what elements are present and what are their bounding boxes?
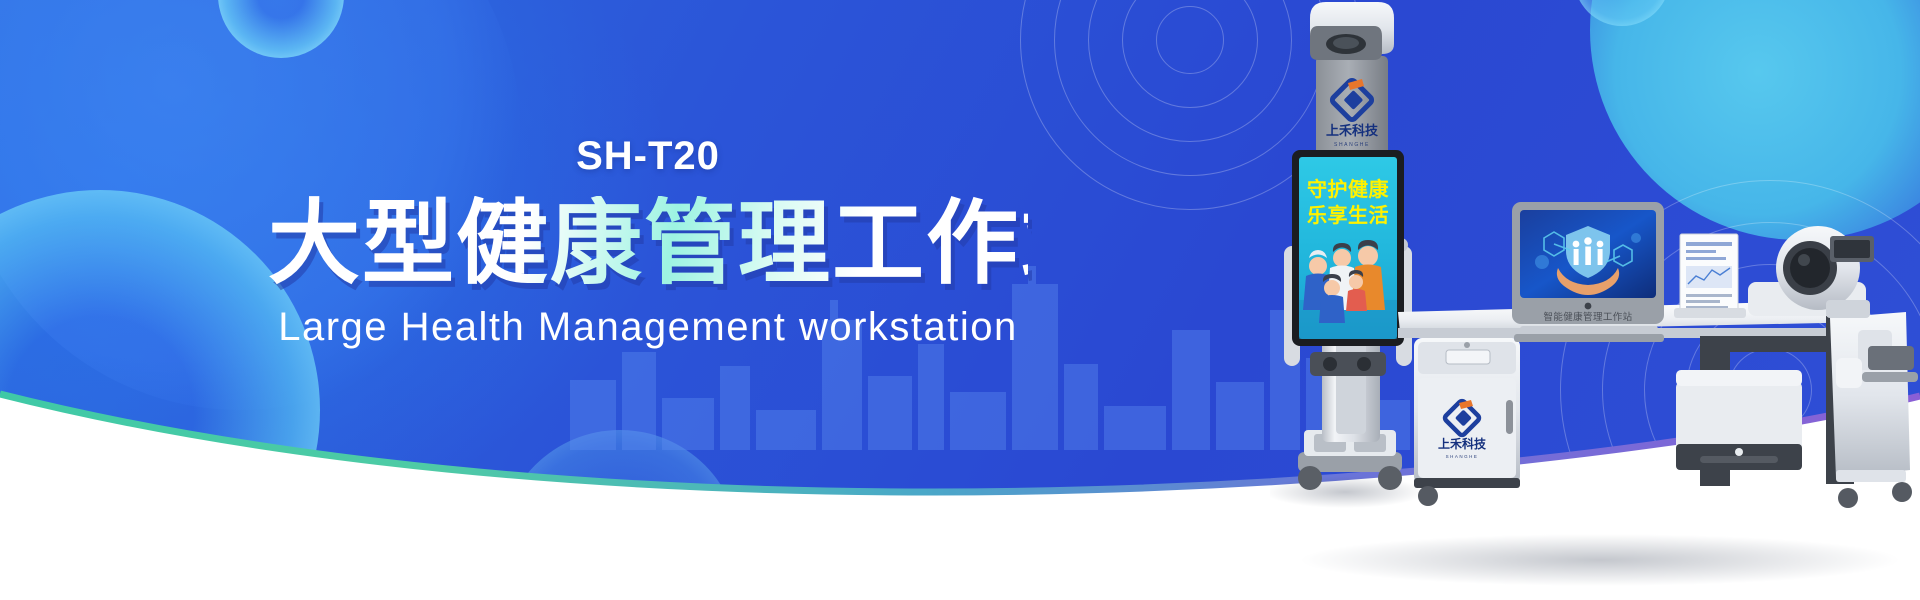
report-papers xyxy=(1674,234,1746,318)
workstation-desk: 上禾科技 SHANGHE xyxy=(1398,202,1918,508)
product-image-health-workstation: 上禾科技 SHANGHE 守护健康 乐享生活 xyxy=(1270,0,1920,600)
workstation-monitor: 智能健康管理工作站 xyxy=(1512,202,1664,342)
cabinet-brand-en: SHANGHE xyxy=(1446,454,1479,459)
kiosk-screen-line2: 乐享生活 xyxy=(1307,203,1389,227)
bubble-glow-ring-topleft xyxy=(218,0,344,58)
kiosk-screen-line1: 守护健康 xyxy=(1307,177,1390,201)
kiosk-unit: 上禾科技 SHANGHE 守护健康 乐享生活 xyxy=(1284,2,1412,490)
product-model-label: SH-T20 xyxy=(268,136,1028,176)
kiosk-brand-cn: 上禾科技 xyxy=(1326,123,1379,139)
kiosk-brand-en: SHANGHE xyxy=(1334,142,1370,148)
cabinet-brand-cn: 上禾科技 xyxy=(1438,436,1487,451)
banner-text-block: SH-T20 大型健康管理工作站 Large Health Management… xyxy=(268,136,1028,350)
monitor-caption-cn: 智能健康管理工作站 xyxy=(1543,311,1632,323)
banner-headline-cn: 大型健康管理工作站 xyxy=(268,196,1028,293)
banner-subline-en: Large Health Management workstation xyxy=(268,305,1028,350)
product-banner: SH-T20 大型健康管理工作站 Large Health Management… xyxy=(0,0,1920,600)
